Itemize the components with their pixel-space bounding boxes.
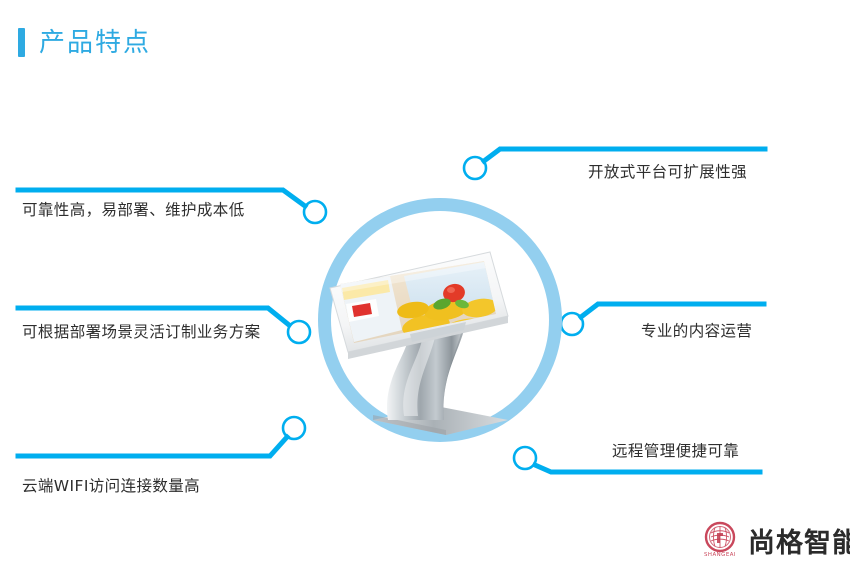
feature-label-cloud-wifi: 云端WIFI访问连接数量高 (22, 479, 200, 495)
connector-node-remote-management[interactable] (514, 447, 536, 469)
connector-line-open-platform (484, 149, 765, 161)
feature-label-content-operation: 专业的内容运营 (641, 324, 752, 340)
connector-node-open-platform[interactable] (464, 157, 486, 179)
feature-label-reliability: 可靠性高，易部署、维护成本低 (22, 203, 245, 219)
brand-logo: SHANGEAI 尚格智能 (700, 521, 850, 565)
shangge-seal-icon (704, 521, 736, 553)
page-title-label: 产品特点 (39, 30, 151, 56)
connector-line-remote-management (535, 465, 760, 472)
connector-node-custom-solution[interactable] (288, 321, 310, 343)
title-accent-bar (18, 28, 25, 57)
logo-wordmark: 尚格智能 (748, 530, 850, 557)
kiosk-illustration (318, 230, 562, 440)
feature-label-open-platform: 开放式平台可扩展性强 (588, 165, 747, 181)
feature-label-remote-management: 远程管理便捷可靠 (612, 444, 739, 460)
logo-mark: SHANGEAI (700, 521, 740, 565)
connector-line-content-operation (581, 304, 764, 317)
connector-node-content-operation[interactable] (561, 313, 583, 335)
slide-canvas: 产品特点 可靠性高，易部署、维护成本低 可根据部署场景灵活订制业务方案 云端WI… (0, 0, 850, 567)
connector-node-reliability[interactable] (304, 201, 326, 223)
page-title: 产品特点 (18, 28, 151, 57)
feature-label-custom-solution: 可根据部署场景灵活订制业务方案 (22, 325, 261, 341)
logo-subtitle: SHANGEAI (700, 553, 740, 558)
connector-node-cloud-wifi[interactable] (283, 417, 305, 439)
connector-line-cloud-wifi (18, 437, 287, 456)
